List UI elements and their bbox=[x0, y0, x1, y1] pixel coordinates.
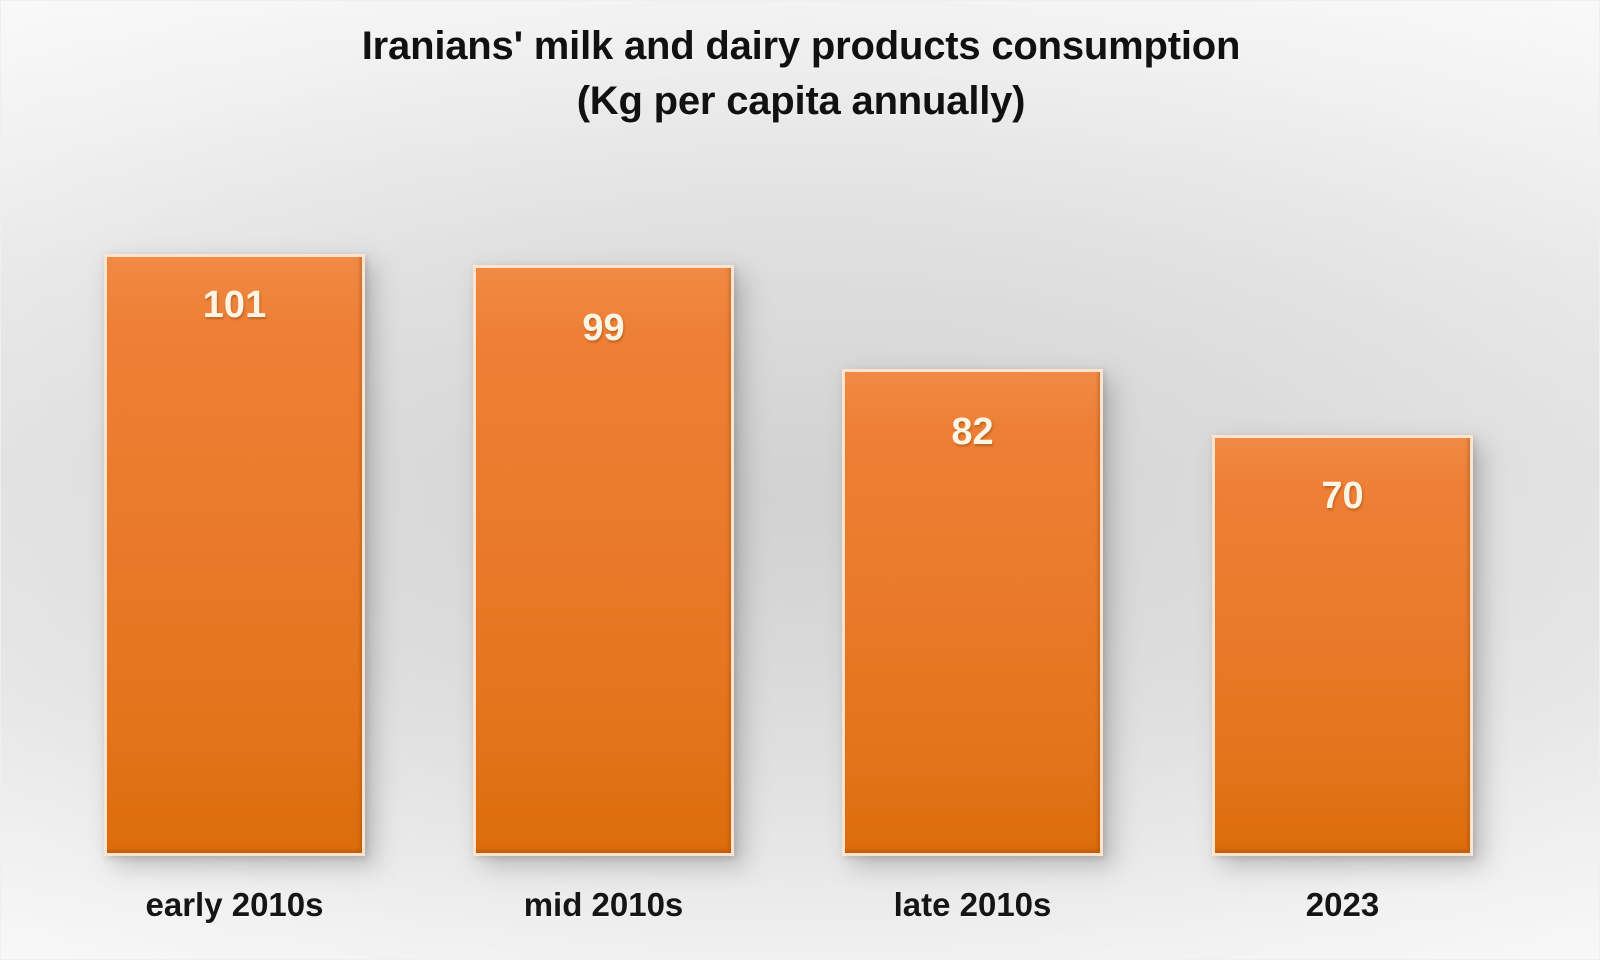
bar-group-2: 82 late 2010s bbox=[842, 369, 1103, 856]
chart-canvas: Iranians' milk and dairy products consum… bbox=[0, 0, 1600, 960]
bar-value-label-2: 82 bbox=[842, 411, 1103, 454]
bar-group-1: 99 mid 2010s bbox=[473, 265, 734, 856]
bar-value-label-0: 101 bbox=[104, 284, 365, 327]
bar-value-label-3: 70 bbox=[1212, 475, 1473, 518]
category-label-3: 2023 bbox=[1212, 886, 1473, 924]
bar-group-0: 101 early 2010s bbox=[104, 254, 365, 856]
plot-area: 101 early 2010s 99 mid 2010s 82 late 201… bbox=[1, 1, 1600, 960]
bar-value-label-1: 99 bbox=[473, 307, 734, 350]
category-label-0: early 2010s bbox=[104, 886, 365, 924]
category-label-2: late 2010s bbox=[842, 886, 1103, 924]
bar-early-2010s[interactable] bbox=[104, 254, 365, 856]
category-label-1: mid 2010s bbox=[473, 886, 734, 924]
bar-group-3: 70 2023 bbox=[1212, 435, 1473, 856]
bar-mid-2010s[interactable] bbox=[473, 265, 734, 856]
